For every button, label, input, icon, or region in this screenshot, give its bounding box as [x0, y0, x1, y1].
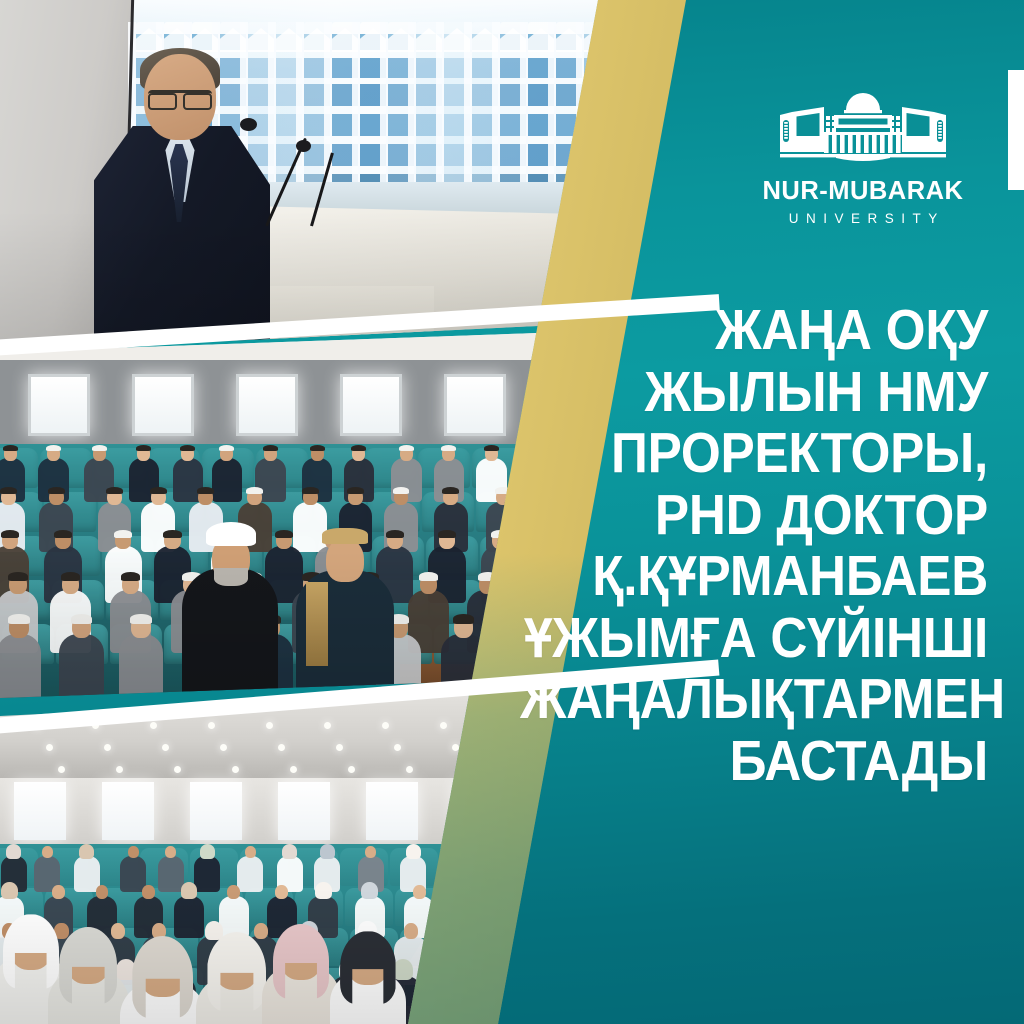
ceiling-light: [58, 766, 65, 773]
headline-line: ПРОРЕКТОРЫ,: [520, 423, 988, 485]
window: [366, 782, 418, 840]
ceiling-light: [150, 722, 157, 729]
window: [236, 374, 298, 436]
headline-text: ЖАҢА ОҚУЖЫЛЫН НМУПРОРЕКТОРЫ,PHD ДОКТОРҚ.…: [520, 300, 988, 792]
ceiling-light: [46, 744, 53, 751]
ceiling-light: [452, 744, 459, 751]
window: [102, 782, 154, 840]
headline-line: ЖЫЛЫН НМУ: [520, 362, 988, 424]
ceiling-light: [440, 722, 447, 729]
ceiling-light: [162, 744, 169, 751]
brand-logo: NUR-MUBARAK UNIVERSITY: [754, 92, 972, 225]
ceiling-light: [382, 722, 389, 729]
window: [190, 782, 242, 840]
ceiling-light: [406, 766, 413, 773]
ceiling-light: [348, 766, 355, 773]
window: [132, 374, 194, 436]
ceiling-light: [174, 766, 181, 773]
headline-line: Қ.ҚҰРМАНБАЕВ: [520, 546, 988, 608]
window: [340, 374, 402, 436]
ceiling-light: [232, 766, 239, 773]
ceiling-light: [266, 722, 273, 729]
ceiling-light: [104, 744, 111, 751]
window: [14, 782, 66, 840]
window: [28, 374, 90, 436]
window: [444, 374, 506, 436]
ceiling-light: [394, 744, 401, 751]
ceiling-light: [278, 744, 285, 751]
headline-line: PHD ДОКТОР: [520, 485, 988, 547]
university-building-icon: [774, 92, 952, 170]
ceiling-light: [208, 722, 215, 729]
ceiling-light: [336, 744, 343, 751]
ceiling-light: [324, 722, 331, 729]
ceiling-light: [116, 766, 123, 773]
window: [278, 782, 330, 840]
brand-subtitle: UNIVERSITY: [754, 212, 972, 226]
brand-name: NUR-MUBARAK: [754, 179, 972, 205]
poster-canvas: NUR-MUBARAK UNIVERSITY ЖАҢА ОҚУЖЫЛЫН НМУ…: [0, 0, 1024, 1024]
headline-line: ҰЖЫМҒА СҮЙІНШІ: [520, 608, 988, 670]
headline-line: БАСТАДЫ: [520, 731, 988, 793]
ceiling-light: [220, 744, 227, 751]
edge-accent-mark: [1008, 70, 1024, 190]
ceiling-light: [290, 766, 297, 773]
